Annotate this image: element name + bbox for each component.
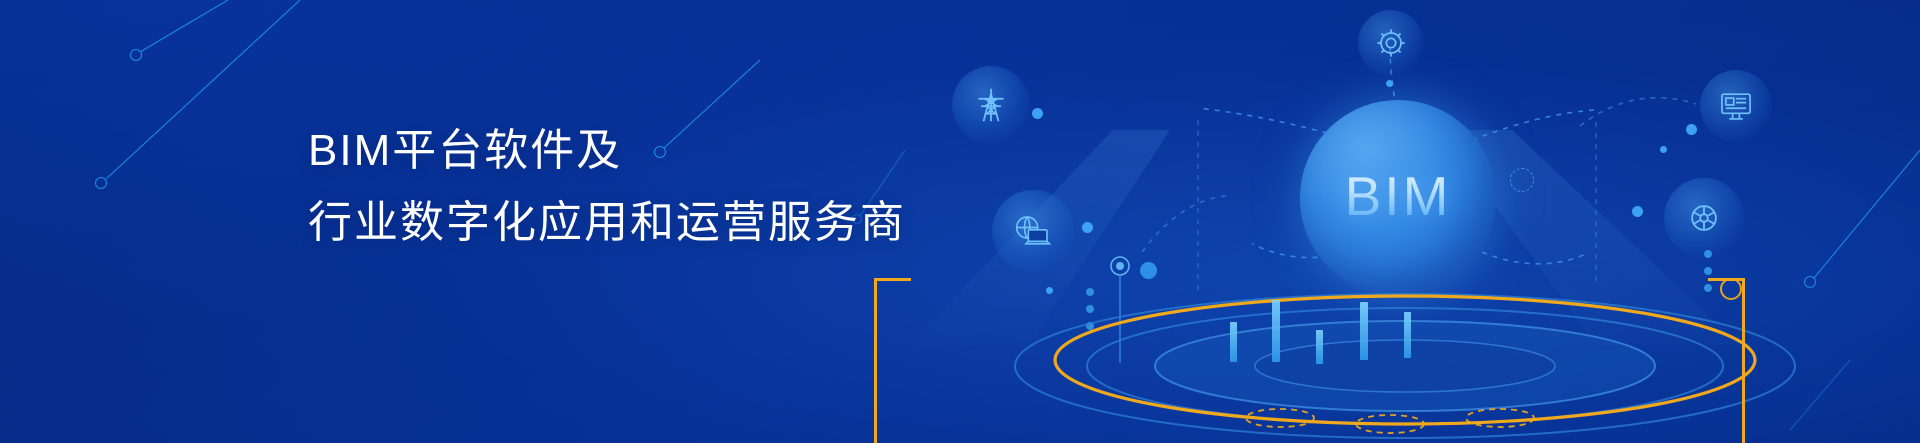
bracket-left: [874, 278, 911, 443]
connector-dot: [1386, 80, 1393, 87]
headline-line-2: 行业数字化应用和运营服务商: [308, 187, 906, 259]
page-title: BIM平台软件及 行业数字化应用和运营服务商: [308, 115, 906, 259]
connector-dot: [1032, 108, 1043, 119]
bim-label: BIM: [1300, 164, 1496, 228]
network-share-icon-node: [1664, 178, 1744, 258]
dashed-marker-ring: [1510, 168, 1534, 192]
hero-banner: BIM平台软件及 行业数字化应用和运营服务商: [0, 0, 1920, 443]
monitor-icon: [1718, 88, 1754, 124]
monitor-icon-node: [1700, 70, 1772, 142]
headline-line-1: BIM平台软件及: [308, 115, 906, 187]
data-bar: [1230, 322, 1237, 362]
power-tower-icon: [971, 85, 1011, 125]
gear-icon-node: [1358, 10, 1424, 76]
bracket-right: [1708, 278, 1745, 443]
data-bar: [1360, 302, 1368, 360]
network-share-icon: [1685, 199, 1723, 237]
globe-laptop-icon: [1012, 211, 1054, 251]
connector-dot: [1082, 222, 1093, 233]
data-bar: [1272, 300, 1280, 362]
bim-illustration: BIM: [1020, 0, 1920, 443]
gear-icon: [1374, 26, 1408, 60]
data-bar: [1316, 330, 1323, 364]
data-bar: [1404, 312, 1411, 358]
power-tower-icon-node: [952, 66, 1030, 144]
connector-dot: [1632, 206, 1643, 217]
connector-dot: [1686, 124, 1697, 135]
connector-dot: [1660, 146, 1667, 153]
